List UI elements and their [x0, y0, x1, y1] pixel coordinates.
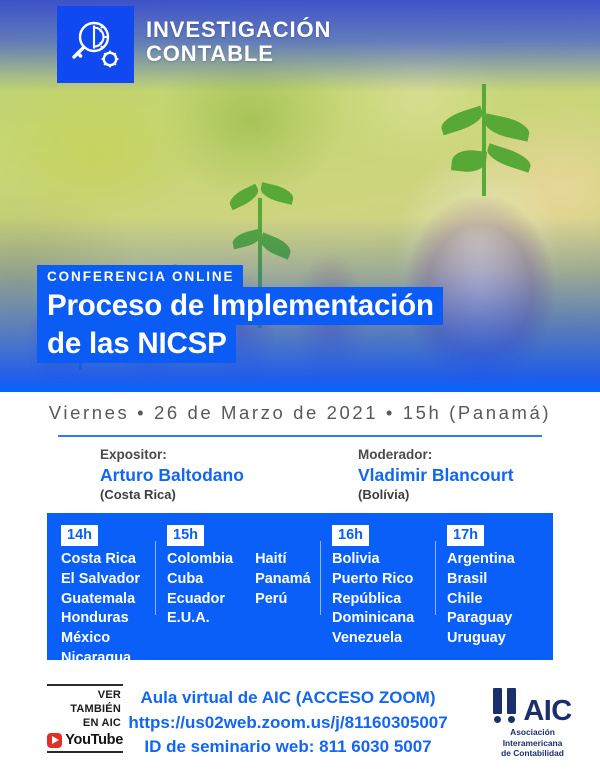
date-divider	[58, 435, 542, 437]
country-item: Perú	[255, 590, 311, 610]
kicker-badge: CONFERENCIA ONLINE	[37, 265, 243, 288]
country-item: Guatemala	[61, 590, 140, 610]
country-item: Colombia	[167, 550, 233, 570]
zoom-title: Aula virtual de AIC (ACCESO ZOOM)	[118, 686, 458, 711]
youtube-bottom-rule	[47, 751, 123, 753]
timezone-country-list: Bolivia Puerto Rico República Dominicana…	[332, 550, 414, 649]
youtube-caption-line-3: EN AIC	[47, 716, 121, 730]
plant-leaf	[485, 143, 534, 172]
brand-logo-box	[57, 6, 134, 83]
country-item: Honduras	[61, 609, 140, 629]
youtube-play-icon	[47, 733, 62, 748]
timezone-badge: 17h	[447, 525, 484, 546]
youtube-wordmark: YouTube	[65, 732, 123, 748]
hero-bottom-bar	[0, 385, 600, 392]
aic-logo-mark: AIC	[480, 688, 585, 723]
speaker-role: Moderador:	[358, 446, 514, 464]
country-item: Costa Rica	[61, 550, 140, 570]
zoom-link[interactable]: https://us02web.zoom.us/j/81160305007	[118, 711, 458, 736]
youtube-caption-line-1: VER	[47, 688, 121, 702]
country-item: Bolivia	[332, 550, 414, 570]
title-line-2: de las NICSP	[37, 325, 236, 363]
country-item: Puerto Rico	[332, 570, 414, 590]
speaker-country: (Costa Rica)	[100, 487, 244, 504]
aic-tagline-line-1: Asociación Interamericana	[480, 727, 585, 748]
timezone-badge: 14h	[61, 525, 98, 546]
hero-banner: INVESTIGACIÓN CONTABLE CONFERENCIA ONLIN…	[0, 0, 600, 392]
timezone-group-15h: 15h Colombia Cuba Ecuador E.U.A. Haití P…	[167, 525, 311, 629]
speaker-country: (Bolívia)	[358, 487, 514, 504]
country-item: Uruguay	[447, 629, 515, 649]
aic-bars-icon	[493, 688, 516, 723]
timezone-group-17h: 17h Argentina Brasil Chile Paraguay Urug…	[447, 525, 515, 649]
country-item: E.U.A.	[167, 609, 233, 629]
youtube-logo[interactable]: YouTube	[47, 731, 123, 751]
magnifier-gear-icon	[68, 17, 124, 73]
speaker-name: Arturo Baltodano	[100, 464, 244, 487]
speaker-role: Expositor:	[100, 446, 244, 464]
title-wrapper: Proceso de Implementación de las NICSP	[37, 287, 443, 363]
speaker-name: Vladimir Blancourt	[358, 464, 514, 487]
footer: VER TAMBIÉN EN AIC YouTube Aula virtual …	[0, 672, 600, 769]
event-date-row: Viernes • 26 de Marzo de 2021 • 15h (Pan…	[0, 402, 600, 424]
timezone-panel: 14h Costa Rica El Salvador Guatemala Hon…	[47, 513, 553, 660]
youtube-block[interactable]: VER TAMBIÉN EN AIC YouTube	[47, 684, 123, 753]
conference-poster: INVESTIGACIÓN CONTABLE CONFERENCIA ONLIN…	[0, 0, 600, 769]
country-item: Dominicana	[332, 609, 414, 629]
timezone-badge: 15h	[167, 525, 204, 546]
country-item: Venezuela	[332, 629, 414, 649]
country-item: México	[61, 629, 140, 649]
timezone-divider	[320, 541, 321, 615]
aic-wordmark: AIC	[523, 699, 571, 723]
country-item: Panamá	[255, 570, 311, 590]
country-item: Paraguay	[447, 609, 515, 629]
country-item: Argentina	[447, 550, 515, 570]
brand-line-1: INVESTIGACIÓN	[146, 18, 331, 42]
youtube-caption: VER TAMBIÉN EN AIC	[47, 686, 123, 731]
plant-leaf	[227, 184, 262, 211]
zoom-webinar-id: ID de seminario web: 811 6030 5007	[118, 735, 458, 760]
timezone-badge: 16h	[332, 525, 369, 546]
speaker-moderador: Moderador: Vladimir Blancourt (Bolívia)	[358, 446, 514, 504]
brand-line-2: CONTABLE	[146, 42, 331, 66]
aic-tagline-line-2: de Contabilidad	[480, 748, 585, 759]
plant-leaf	[438, 106, 485, 136]
timezone-divider	[155, 541, 156, 615]
country-item: Nicaragua	[61, 649, 140, 669]
country-item: República	[332, 590, 414, 610]
brand-name: INVESTIGACIÓN CONTABLE	[146, 18, 331, 66]
country-item: Chile	[447, 590, 515, 610]
aic-logo: AIC Asociación Interamericana de Contabi…	[480, 688, 585, 759]
speaker-expositor: Expositor: Arturo Baltodano (Costa Rica)	[100, 446, 244, 504]
event-date: Viernes • 26 de Marzo de 2021 • 15h (Pan…	[49, 402, 551, 423]
country-item: Cuba	[167, 570, 233, 590]
country-item: El Salvador	[61, 570, 140, 590]
timezone-country-list: Argentina Brasil Chile Paraguay Uruguay	[447, 550, 515, 649]
country-item: Ecuador	[167, 590, 233, 610]
youtube-caption-line-2: TAMBIÉN	[47, 702, 121, 716]
timezone-divider	[435, 541, 436, 615]
title-line-1: Proceso de Implementación	[37, 287, 443, 325]
timezone-group-16h: 16h Bolivia Puerto Rico República Domini…	[332, 525, 414, 649]
zoom-access-block: Aula virtual de AIC (ACCESO ZOOM) https:…	[118, 686, 458, 760]
country-item: Haití	[255, 550, 311, 570]
timezone-country-list: Costa Rica El Salvador Guatemala Hondura…	[61, 550, 140, 668]
timezone-country-list: Colombia Cuba Ecuador E.U.A.	[167, 550, 233, 629]
plant-leaf	[259, 182, 296, 205]
plant-stem	[482, 84, 486, 196]
country-item: Brasil	[447, 570, 515, 590]
timezone-group-14h: 14h Costa Rica El Salvador Guatemala Hon…	[61, 525, 140, 668]
aic-tagline: Asociación Interamericana de Contabilida…	[480, 727, 585, 759]
timezone-country-list: Haití Panamá Perú	[255, 550, 311, 629]
kicker-wrapper: CONFERENCIA ONLINE	[37, 265, 243, 288]
plant-leaf	[483, 113, 532, 141]
